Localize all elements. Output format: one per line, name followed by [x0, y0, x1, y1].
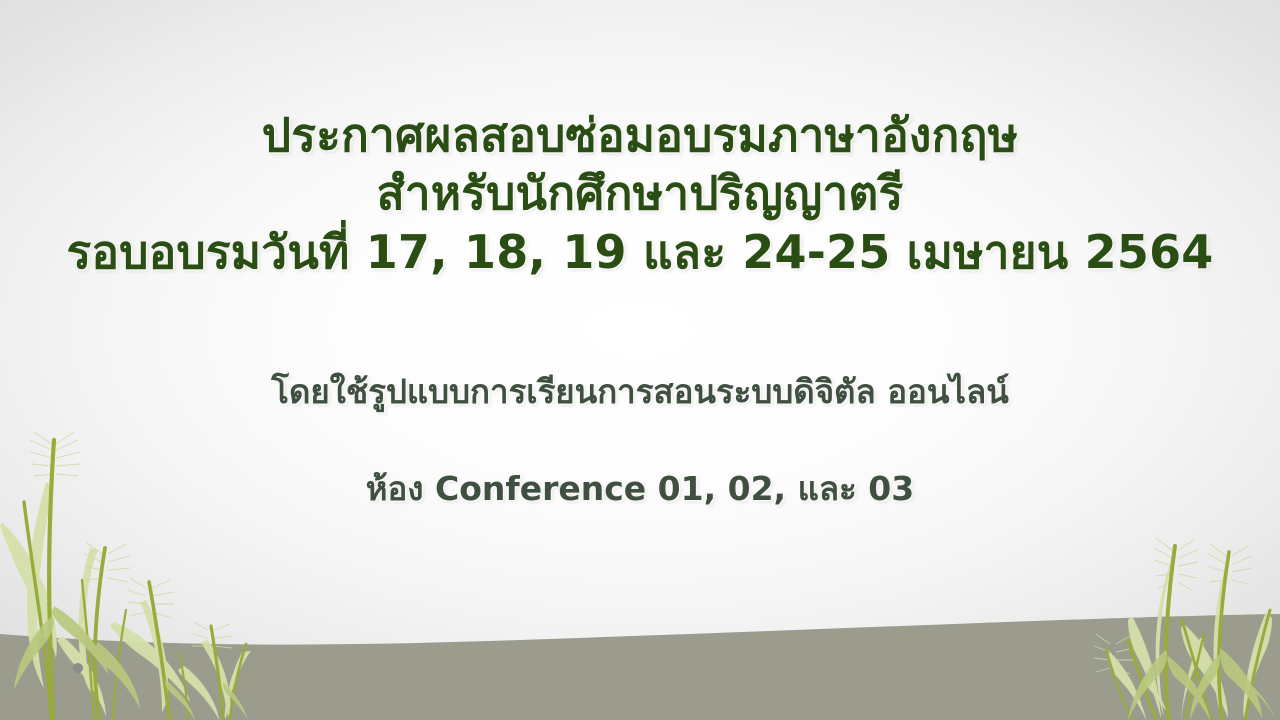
- title-line-1: ประกาศผลสอบซ่อมอบรมภาษาอังกฤษ: [0, 108, 1280, 162]
- grass-seed-heads: [1094, 538, 1252, 674]
- grass-leaves-pale: [0, 482, 251, 720]
- slide-text-block: ประกาศผลสอบซ่อมอบรมภาษาอังกฤษ สำหรับนักศ…: [0, 0, 1280, 515]
- subtitle-line-1: โดยใช้รูปแบบการเรียนการสอนระบบดิจิตัล ออ…: [0, 365, 1280, 418]
- grass-leaf-outlines: [1128, 648, 1276, 720]
- title-line-2: สำหรับนักศึกษาปริญญาตรี: [0, 166, 1280, 220]
- grass-leaves-pale: [1108, 558, 1272, 720]
- pebble: [73, 663, 83, 673]
- grass-leaf-outlines: [14, 606, 248, 720]
- ground-strip: [0, 610, 1280, 720]
- grass-stems: [1106, 546, 1270, 720]
- presentation-slide: ประกาศผลสอบซ่อมอบรมภาษาอังกฤษ สำหรับนักศ…: [0, 0, 1280, 720]
- wheat-grass-cluster-right: [1040, 520, 1280, 720]
- subtitle-line-2: ห้อง Conference 01, 02, และ 03: [0, 462, 1280, 515]
- title-line-3: รอบอบรมวันที่ 17, 18, 19 และ 24-25 เมษาย…: [0, 225, 1280, 279]
